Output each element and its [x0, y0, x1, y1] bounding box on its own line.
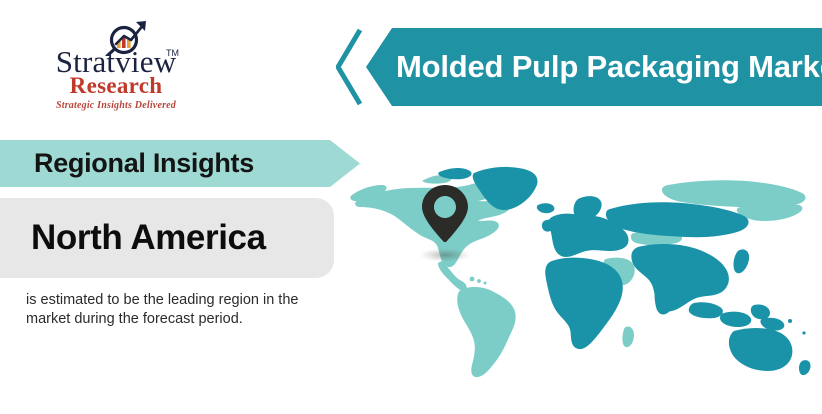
- region-highlight-box: North America: [0, 198, 334, 278]
- map-pin-shadow: [419, 248, 471, 262]
- page-title-banner: Molded Pulp Packaging Market: [366, 28, 822, 106]
- chevron-left-icon: [336, 28, 366, 106]
- page-title: Molded Pulp Packaging Market: [396, 49, 822, 85]
- brand-name-secondary: Research: [26, 74, 206, 97]
- regional-insights-label: Regional Insights: [34, 148, 254, 179]
- brand-tagline: Strategic Insights Delivered: [26, 100, 206, 111]
- region-name: North America: [31, 218, 266, 258]
- brand-logo[interactable]: Stratview TM Research Strategic Insights…: [26, 16, 206, 108]
- world-map: [338, 155, 822, 380]
- trademark-symbol: TM: [166, 48, 179, 58]
- regional-insights-banner: Regional Insights: [0, 140, 360, 187]
- region-caption: is estimated to be the leading region in…: [26, 291, 326, 329]
